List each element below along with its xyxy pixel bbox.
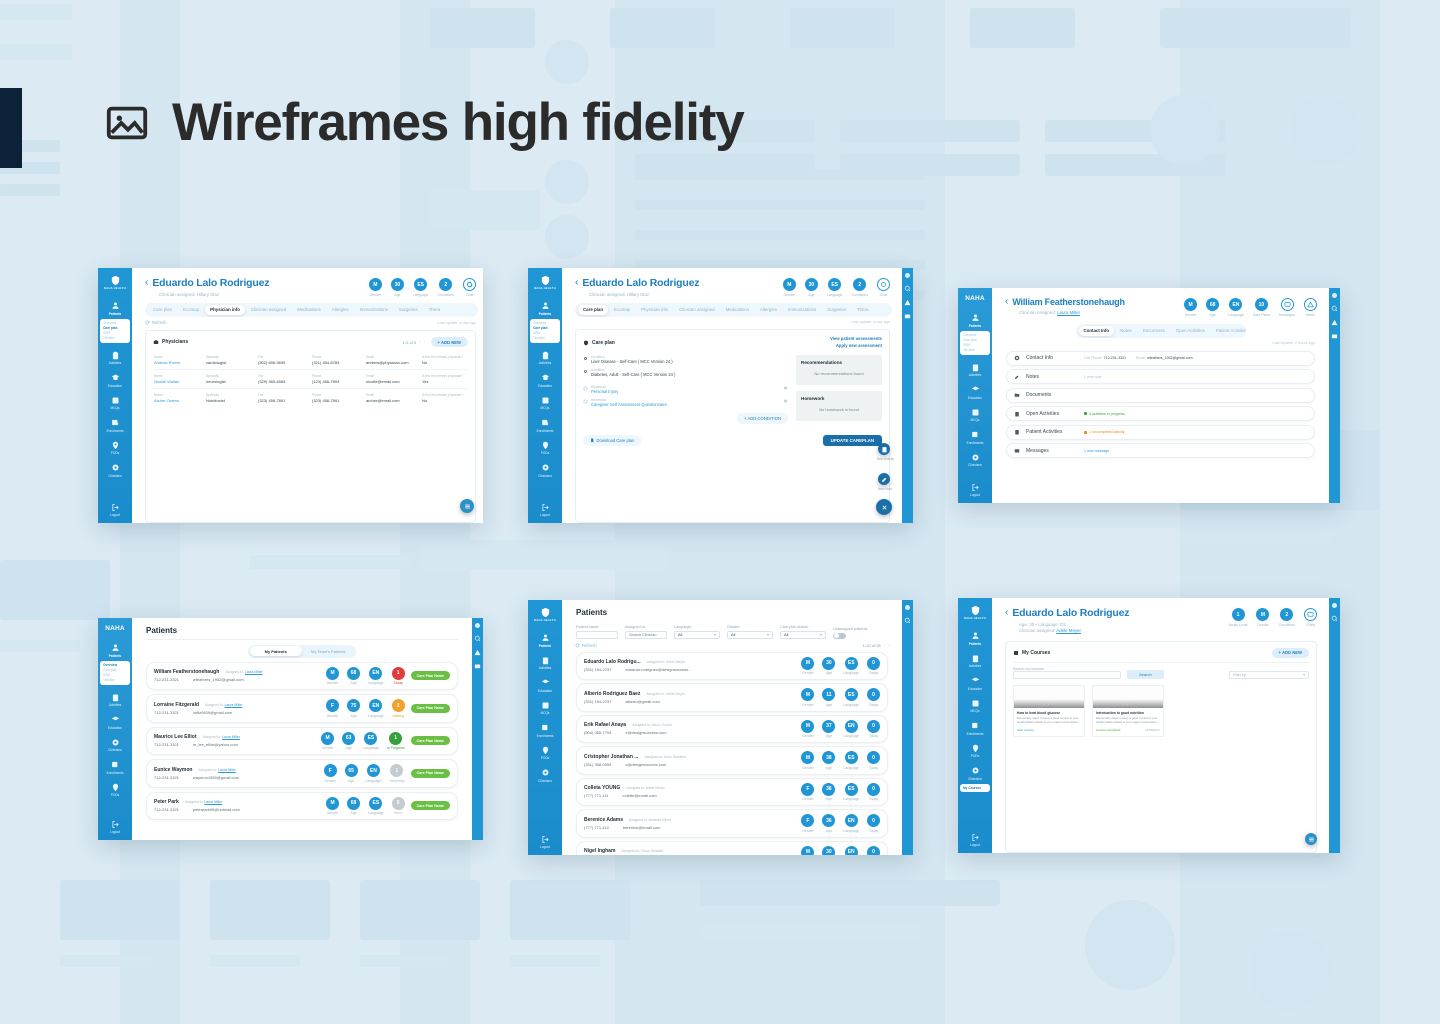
badge-gender: MGender	[801, 751, 814, 770]
wireframe-card-my-courses[interactable]: NAHA HEALTH Patients Activities Educatio…	[958, 598, 1340, 853]
menu-fab[interactable]	[460, 499, 474, 513]
search-input[interactable]	[1013, 671, 1121, 679]
segmented-control[interactable]: My Patients My Team's Patients	[248, 645, 356, 658]
subnav-overview[interactable]: Overview	[533, 321, 560, 325]
pin-icon	[111, 783, 120, 792]
close-fab[interactable]	[876, 499, 892, 515]
badge-chat[interactable]: Chat	[877, 278, 890, 297]
background-block	[0, 560, 110, 620]
patient-badges: MGender 68Age ENLanguage 10Care Plans Me…	[1184, 297, 1317, 317]
download-care-plan-button[interactable]: Download Care plan	[583, 435, 641, 446]
subnav-overview[interactable]: Overview	[103, 321, 130, 325]
add-new-button[interactable]: + ADD NEW	[431, 337, 468, 347]
gear-icon	[971, 766, 980, 775]
apply-assessment-link[interactable]: Apply new assessment	[830, 343, 882, 348]
course-card[interactable]: • • • Introduction to good nutrition Ele…	[1092, 685, 1164, 736]
sidebar[interactable]: NAHA HEALTH Patients Overview Care plan …	[528, 268, 562, 523]
patients-list: Eduardo Lalo Rodrigu...Assigned to: Adel…	[562, 649, 902, 856]
subnav-care-plan[interactable]: Care plan	[103, 326, 130, 330]
gender-select[interactable]: All▾	[727, 631, 773, 640]
segment-my-patients[interactable]: My Patients	[250, 646, 303, 656]
background-block	[360, 880, 480, 940]
badge-language: ENLanguage	[366, 764, 382, 783]
care-plan-status-select[interactable]: All▾	[780, 631, 826, 640]
sidebar-item-label: Activities	[109, 361, 122, 365]
patients-list: William Featherstonehaugh Assigned to: L…	[132, 658, 472, 821]
list-icon	[541, 396, 550, 405]
search-icon[interactable]	[904, 285, 911, 292]
subnav-care-plan[interactable]: Care plan	[533, 326, 560, 330]
tab-bar[interactable]: Contact Info Notes Documents Open Activi…	[1076, 324, 1246, 338]
care-plan-pill[interactable]: Care Plan Name	[411, 671, 450, 680]
physicians-panel: Physicians 1-3 of 3 ‹ › + ADD NEW NameAn…	[145, 330, 476, 523]
background-block	[0, 640, 80, 652]
course-card[interactable]: • • • How to beat blood glucose Elementa…	[1013, 685, 1085, 736]
tab-clinician-assigned[interactable]: Clinician assigned	[674, 305, 719, 315]
subnav-srm[interactable]: SRM	[103, 331, 130, 335]
sidebar-item-logout[interactable]: Logout	[98, 503, 132, 518]
badge-messages[interactable]: Messages	[1279, 298, 1295, 317]
subnav-srm[interactable]: SRM	[533, 331, 560, 335]
sidebar-item-education[interactable]: Education	[528, 678, 562, 693]
sidebar-item-activities[interactable]: Activities	[528, 351, 562, 366]
cap-icon	[541, 678, 550, 687]
patient-name: Eduardo Lalo Rodriguez	[1012, 607, 1129, 619]
list-item[interactable]: Colleta YOUNGAssigned to: Adele Meyer (7…	[576, 778, 888, 807]
sidebar-item-patients[interactable]: Patients	[958, 631, 992, 646]
enroll-icon	[111, 418, 120, 427]
table-row[interactable]: NameAndrew Rivers Specialtycardiologist …	[153, 351, 468, 370]
tab-clinician-assigned[interactable]: Clinician assigned	[246, 305, 291, 315]
list-item[interactable]: Cristopher Jonathan ...Assigned to: Anne…	[576, 746, 888, 775]
sidebar-item-pods[interactable]: PODs	[958, 744, 992, 759]
sidebar-subnav[interactable]: Overview Care plan SRM Timeline	[100, 319, 130, 343]
tab-physician-info[interactable]: Physician info	[205, 305, 245, 315]
badge-language: ESLanguage	[368, 797, 384, 816]
accordion-row-documents[interactable]: Documents	[1006, 388, 1315, 403]
filter-patient-name[interactable]: Patient name:	[576, 625, 618, 639]
background-circle	[1250, 930, 1330, 1010]
sidebar-item-activities[interactable]: Activities	[98, 351, 132, 366]
subnav-care-plan[interactable]: Care plan	[103, 668, 130, 672]
page-title: Patients	[146, 626, 458, 635]
sidebar-item-pods[interactable]: PODs	[528, 441, 562, 456]
tab-contact-info[interactable]: Contact Info	[1079, 326, 1115, 336]
list-item[interactable]: Maurice Lee Elliot Assigned to: Laura Mi…	[146, 727, 458, 756]
circle-icon	[583, 399, 588, 404]
tab-care-plan[interactable]: Care plan	[148, 305, 177, 315]
homework-item[interactable]: HomeworkPersonal Injury	[583, 385, 788, 394]
physicians-table: NameAndrew Rivers Specialtycardiologist …	[153, 351, 468, 407]
tab-physician-info[interactable]: Physician info	[636, 305, 673, 315]
tab-notes[interactable]: Notes	[1115, 326, 1136, 336]
subnav-overview[interactable]: Overview	[963, 333, 990, 337]
accordion-row-patient-activities[interactable]: Patient Activities 1 uncompleted activit…	[1006, 425, 1315, 440]
status-badge: 1 uncompleted activity	[1084, 430, 1125, 434]
document-icon	[590, 438, 595, 443]
search-icon[interactable]	[474, 635, 481, 642]
course-search-bar[interactable]: Search my courses Search Filter by: ▾	[1013, 667, 1309, 679]
sidebar-item-patients[interactable]: Patients	[528, 301, 562, 316]
chat-icon	[1014, 448, 1020, 454]
sidebar-item-clinicians[interactable]: Clinicians	[528, 768, 562, 783]
physician-name[interactable]: Nicolle Wallas	[154, 379, 202, 384]
sidebar[interactable]: NAHA HEALTH Patients Overview Care plan …	[98, 268, 132, 523]
add-condition-button[interactable]: + ADD CONDITION	[737, 413, 788, 424]
back-chevron-icon[interactable]: ‹	[145, 278, 148, 288]
sidebar-item-mcqs[interactable]: MCQs	[528, 701, 562, 716]
add-new-button[interactable]: + ADD NEW	[1272, 648, 1309, 658]
cap-icon	[971, 676, 980, 685]
wireframe-card-patients-filtered[interactable]: NAHA HEALTH Patients Activities Educatio…	[528, 600, 913, 855]
shield-icon	[583, 340, 589, 346]
cap-icon	[541, 373, 550, 382]
subnav-my-courses[interactable]: My Courses	[963, 786, 990, 790]
list-item[interactable]: William Featherstonehaugh Assigned to: L…	[146, 662, 458, 691]
sidebar-item-clinicians[interactable]: Clinicians	[958, 766, 992, 781]
list-item[interactable]: Eduardo Lalo Rodrigu...Assigned to: Adel…	[576, 652, 888, 681]
badge-age: 68Age	[347, 667, 360, 686]
right-rail[interactable]	[472, 618, 483, 840]
sidebar-item-patients[interactable]: Patients	[98, 643, 132, 658]
clipboard-icon	[1014, 429, 1020, 435]
subnav-care-plan[interactable]: Care plan	[963, 338, 990, 342]
list-item[interactable]: Berenice AdamsAssigned to: Amanda Myers …	[576, 809, 888, 838]
pager[interactable]: 1-3 of 3 ‹ ›	[403, 339, 426, 345]
sidebar-item-mcqs[interactable]: MCQs	[958, 408, 992, 423]
sidebar-item-label: Education	[108, 726, 122, 730]
sidebar-item-logout[interactable]: Logout	[958, 483, 992, 498]
logout-icon	[971, 833, 980, 842]
search-icon[interactable]	[1331, 615, 1338, 622]
badge-chat[interactable]: Chat	[463, 278, 476, 297]
assigned-link[interactable]: Laura Miller	[222, 735, 240, 739]
sidebar-item-label: Activities	[109, 703, 122, 707]
badge-age: 38Age	[822, 751, 835, 770]
wireframe-card-my-patients[interactable]: NAHA Patients Overview Care plan SRM Tim…	[98, 618, 483, 840]
physician-name[interactable]: Atcher Owens	[154, 398, 202, 403]
panel-title: Care plan	[583, 340, 615, 346]
background-block	[0, 184, 60, 196]
accordion-row-contact-info[interactable]: Contact Info Cell Phone: 712-231-3321 Em…	[1006, 351, 1315, 366]
chat-icon	[1304, 608, 1317, 621]
sidebar-item-logout[interactable]: Logout	[958, 833, 992, 848]
right-rail[interactable]	[902, 600, 913, 855]
wireframe-card-physician-info[interactable]: NAHA HEALTH Patients Overview Care plan …	[98, 268, 483, 523]
pager-prev-icon[interactable]: ‹	[419, 339, 421, 345]
message-icon[interactable]	[904, 313, 911, 320]
filter-care-plan-status[interactable]: Care plan status: All▾	[780, 625, 826, 639]
tab-bar[interactable]: Care plan Ecomap Physician info Clinicia…	[145, 303, 478, 317]
patient-badges: MGender 30Age ESLanguage 2Conditions Cha…	[783, 277, 890, 297]
subnav-timeline[interactable]: Timeline	[103, 336, 130, 340]
sidebar-item-logout[interactable]: Logout	[98, 820, 132, 835]
right-rail[interactable]	[1329, 288, 1340, 503]
sidebar-item-enrollments[interactable]: Enrollments	[528, 723, 562, 738]
sidebar-item-mcqs[interactable]: MCQs	[528, 396, 562, 411]
tab-ecomap[interactable]: Ecomap	[178, 305, 204, 315]
logo-text: NAHA HEALTH	[964, 617, 986, 620]
sidebar-item-pods[interactable]: PODs	[528, 746, 562, 761]
badge-chats[interactable]: Chats	[1304, 608, 1317, 627]
tab-care-plan[interactable]: Care plan	[578, 305, 608, 315]
list-item[interactable]: Eunice Waymon Assigned to: Laura Miller …	[146, 759, 458, 788]
background-block	[635, 200, 925, 210]
new-note-fab[interactable]	[878, 473, 890, 485]
course-thumbnail: • • •	[1014, 686, 1084, 708]
sidebar-subnav[interactable]: Overview Care plan SRM Timeline	[530, 319, 560, 343]
language-select[interactable]: All▾	[674, 631, 720, 640]
chat-icon	[1281, 298, 1294, 311]
accordion-row-open-activities[interactable]: Open Activities 3 activities in progress	[1006, 406, 1315, 421]
refresh-button[interactable]: Refresh	[145, 320, 167, 325]
alert-icon[interactable]	[474, 649, 481, 656]
sidebar-item-enrollments[interactable]: Enrollments	[98, 418, 132, 433]
sidebar-item-enrollments[interactable]: Enrollments	[528, 418, 562, 433]
table-row[interactable]: NameNicolle Wallas Specialtyneurologist …	[153, 370, 468, 389]
sidebar-item-enrollments[interactable]: Enrollments	[958, 721, 992, 736]
list-icon	[541, 701, 550, 710]
sidebar-item-education[interactable]: Education	[98, 715, 132, 730]
sidebar-item-education[interactable]: Education	[958, 385, 992, 400]
sidebar-item-logout[interactable]: Logout	[528, 835, 562, 850]
sidebar-item-label: Enrollments	[537, 734, 554, 738]
sidebar-item-label: MCQs	[110, 406, 119, 410]
view-assessments-link[interactable]: View patient assessments	[830, 336, 882, 341]
sidebar[interactable]: NAHA HEALTH Patients Activities Educatio…	[528, 600, 562, 855]
start-course-link[interactable]: Start Course	[1017, 728, 1034, 732]
last-update: Last update: a day ago	[851, 320, 890, 324]
clinician-assigned: Clinician assigned: Hillary Diaz	[159, 292, 269, 297]
accordion-row-notes[interactable]: Notes 1 new note	[1006, 369, 1315, 384]
sidebar-subnav[interactable]: Overview Care plan SRM Timeline	[100, 661, 130, 685]
background-block	[1180, 530, 1330, 544]
background-block	[430, 8, 535, 48]
sidebar-item-activities[interactable]: Activities	[98, 693, 132, 708]
tab-medications[interactable]: Medications	[721, 305, 754, 315]
app-logo: NAHA	[965, 295, 985, 302]
search-button[interactable]: Search	[1127, 670, 1164, 679]
search-icon[interactable]	[904, 617, 911, 624]
table-row[interactable]: NameAtcher Owens SpecialtyNutritionist F…	[153, 389, 468, 407]
care-plan-pill[interactable]: Care Plan Name	[411, 704, 450, 713]
physician-name[interactable]: Andrew Rivers	[154, 360, 202, 365]
alert-icon[interactable]	[1331, 319, 1338, 326]
sidebar-item-patients[interactable]: Patients	[528, 633, 562, 648]
sidebar-item-education[interactable]: Education	[528, 373, 562, 388]
message-icon[interactable]	[474, 663, 481, 670]
pen-icon	[1014, 374, 1020, 380]
assigned-link[interactable]: Laura Miller	[245, 670, 263, 674]
logo-text: NAHA HEALTH	[534, 287, 556, 290]
subnav-timeline[interactable]: Timeline	[963, 348, 990, 352]
list-item[interactable]: Nigel InghamAssigned to: Daryn Shasted (…	[576, 841, 888, 856]
sidebar-item-activities[interactable]: Activities	[958, 363, 992, 378]
badge-status: 0None	[392, 797, 405, 816]
sidebar-item-label: Enrollments	[537, 429, 554, 433]
clinician-link[interactable]: Adele Meyer	[1056, 628, 1081, 633]
sidebar-item-enrollments[interactable]: Enrollments	[98, 760, 132, 775]
assigned-link[interactable]: Laura Miller	[225, 703, 243, 707]
badge-gender: FGender	[801, 783, 814, 802]
clipboard-icon	[111, 351, 120, 360]
sidebar-item-patients[interactable]: Patients	[958, 313, 992, 328]
logout-icon	[541, 503, 550, 512]
tab-therapies[interactable]: Thera	[424, 305, 445, 315]
sidebar-item-activities[interactable]: Activities	[528, 656, 562, 671]
pager-next-icon[interactable]: ›	[424, 339, 426, 345]
assigned-to-input[interactable]: Search Clinician	[625, 631, 667, 640]
folder-icon	[1014, 392, 1020, 398]
badge-language: ESLanguage	[413, 278, 429, 297]
wireframe-card-care-plan[interactable]: NAHA HEALTH Patients Overview Care plan …	[528, 268, 913, 523]
right-rail[interactable]	[1329, 598, 1340, 853]
assigned-link[interactable]: Laura Miller	[204, 800, 222, 804]
tab-ecomap[interactable]: Ecomap	[609, 305, 635, 315]
sidebar-item-education[interactable]: Education	[98, 373, 132, 388]
sidebar[interactable]: NAHA Patients Overview Care plan SRM Tim…	[98, 618, 132, 840]
clipboard-icon	[971, 363, 980, 372]
sidebar-item-patients[interactable]: Patients	[98, 301, 132, 316]
condition-item[interactable]: ConditionDiabetes, Adult - Self-Care ( M…	[583, 368, 788, 377]
search-icon[interactable]	[1331, 305, 1338, 312]
alert-icon[interactable]	[904, 299, 911, 306]
sidebar-item-mcqs[interactable]: MCQs	[958, 699, 992, 714]
logout-icon	[971, 483, 980, 492]
badge-alerts[interactable]: Alerts	[1304, 298, 1317, 317]
sidebar-item-logout[interactable]: Logout	[528, 503, 562, 518]
filter-language[interactable]: Language: All▾	[674, 625, 720, 639]
logout-icon	[111, 503, 120, 512]
sidebar-item-activities[interactable]: Activities	[958, 654, 992, 669]
background-circle	[545, 40, 589, 84]
pager-count: 1-10 of 28	[863, 643, 881, 648]
badge-acuity-level: 1Acuity Level	[1229, 608, 1248, 627]
tab-immunizations[interactable]: Immunizations	[783, 305, 821, 315]
courses-panel: My Courses + ADD NEW Search my courses S…	[1005, 641, 1317, 854]
care-plan-pill[interactable]: Care Plan Name	[411, 769, 450, 778]
sidebar-item-clinicians[interactable]: Clinicians	[98, 738, 132, 753]
filter-unassigned[interactable]: Unassigned patients	[833, 627, 867, 639]
sidebar-subnav[interactable]: Overview Care plan SRM Timeline	[960, 331, 990, 355]
tab-open-activities[interactable]: Open Activities	[1171, 326, 1210, 336]
accordion-row-messages[interactable]: Messages 1 new message	[1006, 443, 1315, 458]
tab-medications[interactable]: Medications	[292, 305, 325, 315]
sidebar-item-label: Education	[538, 689, 552, 693]
sidebar-item-clinicians[interactable]: Clinicians	[958, 453, 992, 468]
badge-language: ENLanguage	[843, 814, 859, 833]
tab-patient-activities[interactable]: Patient Activities	[1211, 326, 1246, 336]
patient-name: Eduardo Lalo Rodriguez	[152, 277, 269, 289]
assigned-link[interactable]: Laura Miller	[218, 768, 236, 772]
sidebar-item-mcqs[interactable]: MCQs	[98, 396, 132, 411]
background-block	[60, 880, 180, 940]
refresh-button[interactable]: Refresh	[575, 643, 597, 648]
sidebar-item-clinicians[interactable]: Clinicians	[98, 463, 132, 478]
tab-allergies[interactable]: Allergies	[755, 305, 782, 315]
list-item[interactable]: Erik Rafael AnayaAssigned to: Alison Tuc…	[576, 715, 888, 744]
patient-header: ‹ Eduardo Lalo Rodriguez Age: 30 • Langu…	[992, 598, 1329, 633]
filter-assigned-to[interactable]: Assigned to: Search Clinician	[625, 625, 667, 639]
badge-age: 63Age	[342, 732, 355, 751]
list-item[interactable]: Peter Park Assigned to: Laura Miller 712…	[146, 792, 458, 821]
tab-therapies[interactable]: Thera	[852, 305, 873, 315]
subnav-srm[interactable]: SRM	[103, 673, 130, 677]
filter-gender[interactable]: Gender: All▾	[727, 625, 773, 639]
badge-conditions: 2Conditions	[851, 278, 868, 297]
care-plan-pill[interactable]: Care Plan Name	[411, 736, 450, 745]
badge-gender: MGender	[801, 688, 814, 707]
sidebar-subnav-courses[interactable]: My Courses	[960, 784, 990, 793]
subnav-timeline[interactable]: Timeline	[533, 336, 560, 340]
message-icon[interactable]	[1331, 333, 1338, 340]
sidebar-item-pods[interactable]: PODs	[98, 783, 132, 798]
subnav-timeline[interactable]: Timeline	[103, 678, 130, 682]
filter-by-select[interactable]: Filter by: ▾	[1229, 671, 1309, 679]
unassigned-toggle[interactable]	[833, 633, 846, 640]
badge-age: 11Age	[822, 688, 835, 707]
back-chevron-icon[interactable]: ‹	[1005, 608, 1008, 618]
sidebar-item-label: Clinicians	[968, 777, 982, 781]
background-block	[610, 8, 715, 48]
sidebar-item-education[interactable]: Education	[958, 676, 992, 691]
new-activity-label: New Activity	[877, 457, 894, 461]
wireframe-card-contact-info[interactable]: NAHA Patients Overview Care plan SRM Tim…	[958, 288, 1340, 503]
patient-name-input[interactable]	[576, 631, 618, 640]
subnav-srm[interactable]: SRM	[963, 343, 990, 347]
sidebar-item-enrollments[interactable]: Enrollments	[958, 430, 992, 445]
background-circle	[1150, 95, 1220, 165]
filter-bar[interactable]: Patient name: Assigned to: Search Clinic…	[562, 621, 902, 639]
tab-surgeries[interactable]: Surgeries	[822, 305, 851, 315]
update-careplan-button[interactable]: UPDATE CAREPLAN	[823, 435, 882, 446]
badge-age: 30Age	[822, 846, 835, 856]
tab-immunizations[interactable]: Immunizations	[355, 305, 393, 315]
sidebar[interactable]: NAHA Patients Overview Care plan SRM Tim…	[958, 288, 992, 503]
patient-badges: MGender 30Age ESLanguage 2Conditions Cha…	[369, 277, 476, 297]
new-activity-fab[interactable]	[878, 443, 890, 455]
patient-header: ‹ Eduardo Lalo Rodriguez Clinician assig…	[562, 268, 902, 297]
page-title: Wireframes high fidelity	[172, 92, 744, 153]
sidebar[interactable]: NAHA HEALTH Patients Activities Educatio…	[958, 598, 992, 853]
right-rail[interactable]	[902, 268, 913, 523]
badge-gender: FGender	[326, 699, 339, 718]
condition-item[interactable]: ConditionLiver Disease - Self-Care ( MCC…	[583, 355, 788, 364]
list-item[interactable]: Lorraine Fitzgerald Assigned to: Laura M…	[146, 694, 458, 723]
sidebar-item-pods[interactable]: PODs	[98, 441, 132, 456]
back-chevron-icon[interactable]: ‹	[575, 278, 578, 288]
tab-documents[interactable]: Documents	[1138, 326, 1170, 336]
main-content: Patients My Patients My Team's Patients …	[132, 618, 472, 840]
subnav-overview[interactable]: Overview	[103, 663, 130, 667]
sidebar-item-label: Clinicians	[108, 474, 122, 478]
tab-allergies[interactable]: Allergies	[327, 305, 354, 315]
back-chevron-icon[interactable]: ‹	[1005, 297, 1008, 307]
background-block	[840, 120, 1020, 142]
sidebar-item-label: Enrollments	[107, 771, 124, 775]
homework-item[interactable]: HomeworkCaregiver Self Assessment Questi…	[583, 398, 788, 407]
badge-gender: MGender	[321, 732, 334, 751]
list-item[interactable]: Alberto Rodriguez BaezAssigned to: Adele…	[576, 683, 888, 712]
sidebar-item-clinicians[interactable]: Clinicians	[528, 463, 562, 478]
tab-surgeries[interactable]: Surgeries	[394, 305, 423, 315]
menu-fab[interactable]	[1305, 833, 1317, 845]
tab-bar[interactable]: Care plan Ecomap Physician info Clinicia…	[575, 303, 892, 317]
background-block	[1245, 8, 1350, 48]
clinician-link[interactable]: Laura Miller	[1057, 310, 1080, 315]
care-plan-pill[interactable]: Care Plan Name	[411, 801, 450, 810]
segment-my-teams-patients[interactable]: My Team's Patients	[302, 646, 355, 656]
